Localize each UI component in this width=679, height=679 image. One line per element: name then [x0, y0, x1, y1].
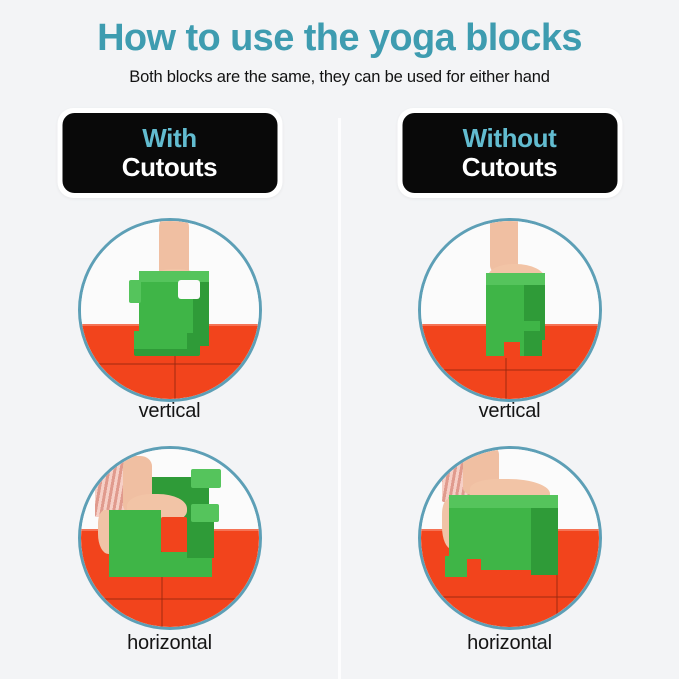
block-foot-right [524, 331, 542, 356]
block-rear-tab [191, 469, 221, 489]
badge-line2: Cutouts [122, 153, 217, 182]
block-front-tab [191, 504, 219, 522]
block-foot-left [445, 556, 466, 577]
badge-inner: With Cutouts [62, 113, 277, 193]
block-top [449, 495, 558, 507]
caption-with-cutouts-vertical: vertical [0, 400, 339, 423]
badge-with-cutouts: With Cutouts [57, 108, 282, 198]
photo-scene [81, 449, 259, 627]
block-top [486, 273, 545, 285]
photo-scene [81, 221, 259, 399]
photo-scene [421, 221, 599, 399]
caption-with-cutouts-horizontal: horizontal [0, 632, 339, 655]
striped-pants [95, 453, 127, 517]
caption-without-cutouts-horizontal: horizontal [340, 632, 679, 655]
mat-seam [418, 369, 602, 371]
photo-scene [421, 449, 599, 627]
photo-with-cutouts-horizontal [78, 446, 262, 630]
page-title: How to use the yoga blocks [0, 18, 679, 60]
block-tab [129, 280, 141, 303]
badge-line1: With [142, 124, 196, 153]
badge-without-cutouts: Without Cutouts [397, 108, 622, 198]
photo-without-cutouts-vertical [418, 218, 602, 402]
block-foot-notch [467, 559, 481, 577]
badge-line2: Cutouts [462, 153, 557, 182]
block-right-face [531, 497, 558, 575]
photo-with-cutouts-vertical [78, 218, 262, 402]
caption-without-cutouts-vertical: vertical [340, 400, 679, 423]
mat-seam [78, 363, 262, 365]
column-without-cutouts: Without Cutouts vertical [340, 105, 679, 679]
photo-without-cutouts-horizontal [418, 446, 602, 630]
column-with-cutouts: With Cutouts [0, 105, 339, 679]
badge-line1: Without [463, 124, 557, 153]
mat-seam [418, 596, 602, 598]
badge-inner: Without Cutouts [402, 113, 617, 193]
block-foot-notch [504, 342, 520, 358]
mat-seam [78, 598, 262, 600]
block-cutout [178, 280, 199, 300]
block-foot-front [134, 331, 187, 349]
block-cutout [161, 517, 188, 553]
page-subtitle: Both blocks are the same, they can be us… [0, 68, 679, 87]
